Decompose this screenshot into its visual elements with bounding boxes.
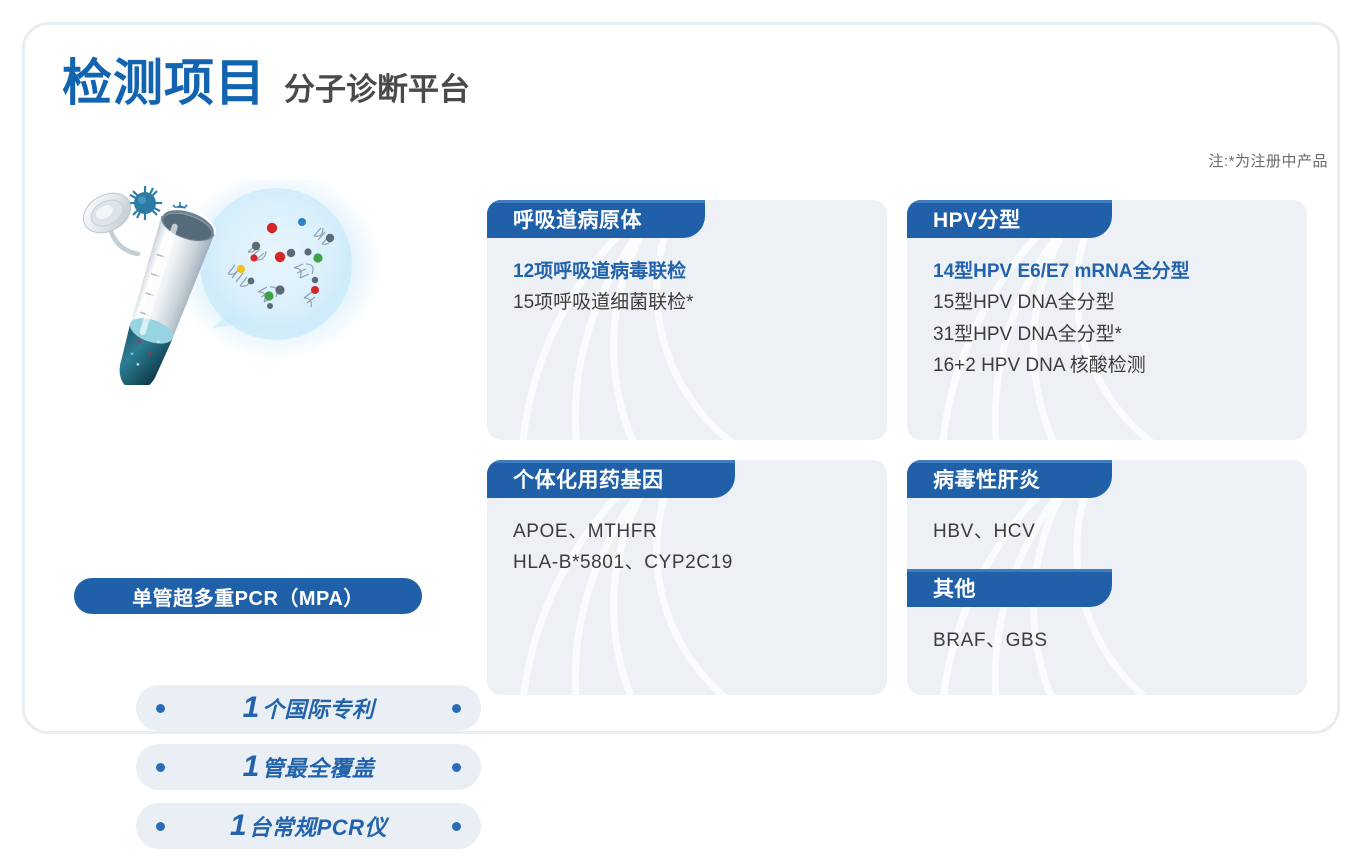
feature-label: 台常规PCR仪 [249,815,387,840]
bullet-dot-icon [156,704,165,713]
feature-text: 1台常规PCR仪 [230,809,387,843]
bullet-dot-icon [452,822,461,831]
bullet-dot-icon [156,822,165,831]
list-item: 14型HPV E6/E7 mRNA全分型 [933,256,1307,287]
page-title: 检测项目 [62,58,266,108]
feature-text: 1个国际专利 [243,691,375,725]
list-item: BRAF、GBS [933,625,1307,656]
card-body: 14型HPV E6/E7 mRNA全分型 15型HPV DNA全分型 31型HP… [907,238,1307,381]
feature-number: 1 [243,691,260,724]
card-body: HBV、HCV [907,498,1307,547]
feature-number: 1 [243,750,260,783]
card-ribbon-title: 病毒性肝炎 [907,460,1112,498]
bullet-dot-icon [156,763,165,772]
list-item: 15项呼吸道细菌联检* [513,287,887,318]
list-item: 12项呼吸道病毒联检 [513,256,887,287]
feature-text: 1管最全覆盖 [243,750,375,784]
card-grid: 呼吸道病原体 12项呼吸道病毒联检 15项呼吸道细菌联检* HPV分型 14型H… [487,200,1327,700]
list-item: APOE、MTHFR [513,516,887,547]
list-item: HBV、HCV [933,516,1307,547]
card-body: 12项呼吸道病毒联检 15项呼吸道细菌联检* [487,238,887,319]
page-header: 检测项目 分子诊断平台 [62,58,470,108]
card-ribbon-title: 个体化用药基因 [487,460,735,498]
mpa-badge: 单管超多重PCR（MPA） [74,578,422,614]
card-misc: 病毒性肝炎 HBV、HCV 其他 BRAF、GBS [907,460,1307,695]
feature-label: 管最全覆盖 [262,756,375,781]
card-ribbon-title: 呼吸道病原体 [487,200,705,238]
footnote-note: 注:*为注册中产品 [1208,150,1328,171]
card-pharmacogenomics: 个体化用药基因 APOE、MTHFR HLA-B*5801、CYP2C19 [487,460,887,695]
feature-pill: 1台常规PCR仪 [136,803,481,849]
card-body-secondary: BRAF、GBS [907,607,1307,656]
list-item: 31型HPV DNA全分型* [933,319,1307,350]
card-ribbon-title-secondary: 其他 [907,569,1112,607]
feature-list: 1个国际专利 1管最全覆盖 1台常规PCR仪 [136,685,481,862]
feature-number: 1 [230,809,247,842]
pcr-tube-illustration [62,180,432,385]
page-subtitle: 分子诊断平台 [284,74,470,105]
feature-label: 个国际专利 [262,697,375,722]
list-item: 15型HPV DNA全分型 [933,287,1307,318]
bullet-dot-icon [452,763,461,772]
list-item: HLA-B*5801、CYP2C19 [513,547,887,578]
card-body: APOE、MTHFR HLA-B*5801、CYP2C19 [487,498,887,579]
card-respiratory: 呼吸道病原体 12项呼吸道病毒联检 15项呼吸道细菌联检* [487,200,887,440]
list-item: 16+2 HPV DNA 核酸检测 [933,350,1307,381]
feature-pill: 1管最全覆盖 [136,744,481,790]
left-column: 单管超多重PCR（MPA） 1个国际专利 1管最全覆盖 1台常规PCR仪 [62,180,432,385]
bullet-dot-icon [452,704,461,713]
card-hpv: HPV分型 14型HPV E6/E7 mRNA全分型 15型HPV DNA全分型… [907,200,1307,440]
card-ribbon-title: HPV分型 [907,200,1112,238]
feature-pill: 1个国际专利 [136,685,481,731]
